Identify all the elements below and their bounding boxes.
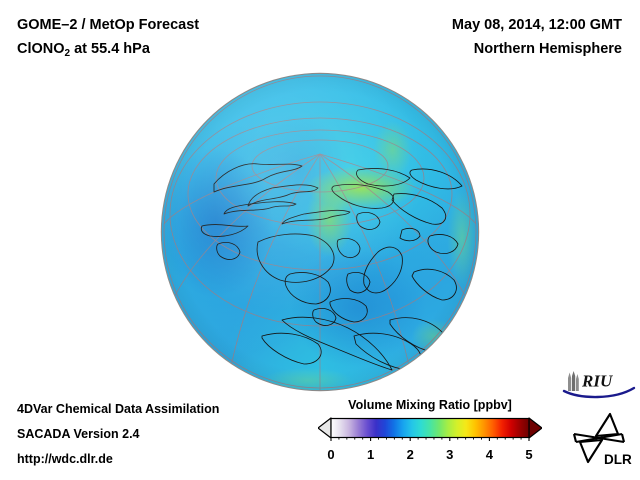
species-subscript: 2 xyxy=(65,48,71,59)
footer-line-3: http://wdc.dlr.de xyxy=(17,452,113,466)
riu-wordmark: RIU xyxy=(581,372,613,391)
globe-shading xyxy=(162,74,478,390)
species-suffix: at 55.4 hPa xyxy=(70,41,150,57)
colorbar-tick-0: 0 xyxy=(327,447,334,462)
header-instrument-line: GOME–2 / MetOp Forecast xyxy=(17,17,199,33)
header-species-line: ClONO2 at 55.4 hPa xyxy=(17,41,150,57)
colorbar-tick-4: 4 xyxy=(486,447,493,462)
globe-disc xyxy=(162,74,478,390)
header-region: Northern Hemisphere xyxy=(474,41,622,57)
header-datetime: May 08, 2014, 12:00 GMT xyxy=(452,17,622,33)
dlr-wordmark: DLR xyxy=(604,452,632,467)
riu-tower-icon xyxy=(568,371,579,391)
colorbar-tick-5: 5 xyxy=(525,447,532,462)
dlr-logo: DLR xyxy=(566,412,638,468)
colorbar-tick-3: 3 xyxy=(446,447,453,462)
colorbar-title: Volume Mixing Ratio [ppbv] xyxy=(318,398,542,412)
colorbar: Volume Mixing Ratio [ppbv] 012345 xyxy=(318,398,542,463)
colorbar-gradient xyxy=(318,417,542,441)
globe-map xyxy=(162,74,478,390)
colorbar-tick-labels: 012345 xyxy=(318,447,542,463)
footer-line-1: 4DVar Chemical Data Assimilation xyxy=(17,402,219,416)
colorbar-tick-2: 2 xyxy=(407,447,414,462)
riu-logo: RIU xyxy=(562,369,636,401)
colorbar-right-cap xyxy=(529,418,542,438)
footer-line-2: SACADA Version 2.4 xyxy=(17,427,140,441)
species-prefix: ClONO xyxy=(17,41,65,57)
colorbar-tick-1: 1 xyxy=(367,447,374,462)
colorbar-left-cap xyxy=(318,418,331,438)
